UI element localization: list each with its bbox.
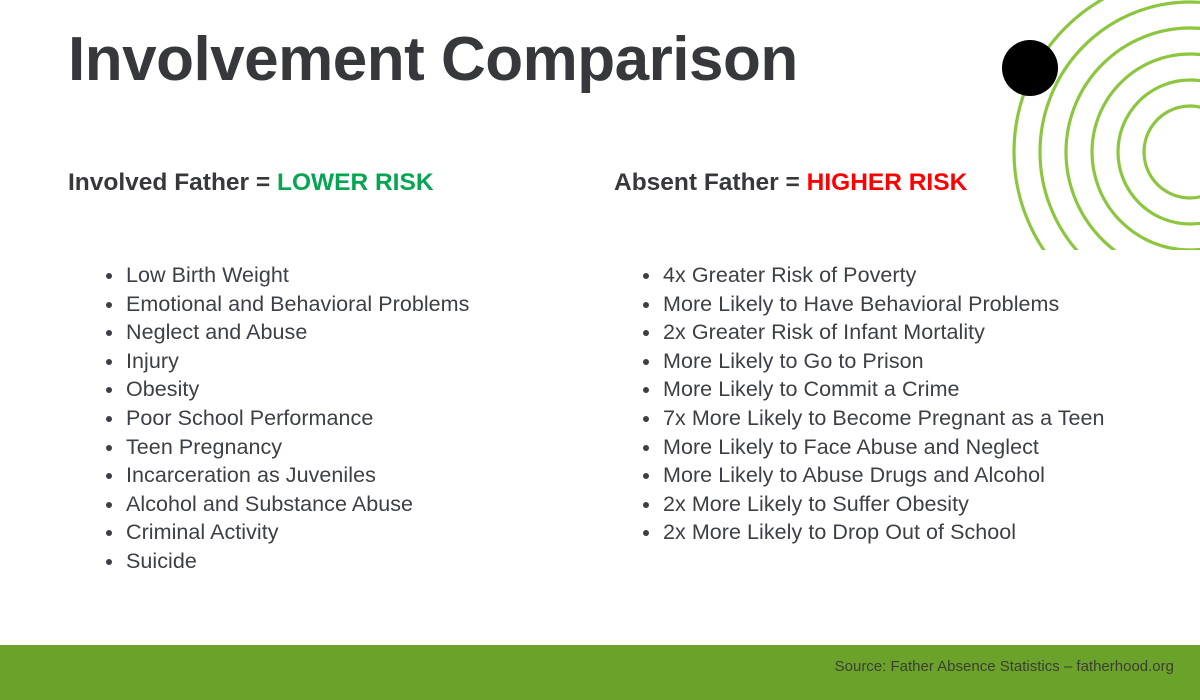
ring-group bbox=[1014, 0, 1200, 250]
source-citation: Source: Father Absence Statistics – fath… bbox=[835, 658, 1174, 675]
list-item: Emotional and Behavioral Problems bbox=[105, 290, 469, 319]
black-dot-icon bbox=[1002, 40, 1058, 96]
footer-band: Source: Father Absence Statistics – fath… bbox=[0, 645, 1200, 700]
list-item: 2x More Likely to Drop Out of School bbox=[642, 518, 1105, 547]
ring-2 bbox=[1118, 80, 1200, 224]
ring-5 bbox=[1040, 2, 1200, 250]
list-item: 2x More Likely to Suffer Obesity bbox=[642, 490, 1105, 519]
list-item: Teen Pregnancy bbox=[105, 433, 469, 462]
list-item: Alcohol and Substance Abuse bbox=[105, 490, 469, 519]
list-item: Injury bbox=[105, 347, 469, 376]
list-item: More Likely to Go to Prison bbox=[642, 347, 1105, 376]
list-item: Obesity bbox=[105, 375, 469, 404]
ring-4 bbox=[1066, 28, 1200, 250]
list-item: More Likely to Abuse Drugs and Alcohol bbox=[642, 461, 1105, 490]
page-title: Involvement Comparison bbox=[68, 26, 798, 94]
rings-svg bbox=[970, 0, 1200, 250]
list-item: Incarceration as Juveniles bbox=[105, 461, 469, 490]
list-item: 2x Greater Risk of Infant Mortality bbox=[642, 318, 1105, 347]
ring-3 bbox=[1092, 54, 1200, 250]
right-heading-prefix: Absent Father = bbox=[614, 169, 807, 196]
list-item: Poor School Performance bbox=[105, 404, 469, 433]
slide-canvas: Involvement Comparison Involved Father =… bbox=[0, 0, 1200, 700]
left-heading-risk-label: LOWER RISK bbox=[277, 169, 434, 196]
concentric-rings-decoration bbox=[970, 0, 1200, 250]
list-item: More Likely to Face Abuse and Neglect bbox=[642, 433, 1105, 462]
ring-6 bbox=[1014, 0, 1200, 250]
left-risk-list: Low Birth Weight Emotional and Behaviora… bbox=[105, 261, 469, 576]
list-item: Neglect and Abuse bbox=[105, 318, 469, 347]
list-item: More Likely to Commit a Crime bbox=[642, 375, 1105, 404]
list-item: Low Birth Weight bbox=[105, 261, 469, 290]
right-risk-list: 4x Greater Risk of Poverty More Likely t… bbox=[642, 261, 1105, 547]
left-heading-prefix: Involved Father = bbox=[68, 169, 277, 196]
right-column-heading: Absent Father = HIGHER RISK bbox=[614, 168, 1174, 197]
list-item: Criminal Activity bbox=[105, 518, 469, 547]
list-item: Suicide bbox=[105, 547, 469, 576]
list-item: 4x Greater Risk of Poverty bbox=[642, 261, 1105, 290]
right-heading-risk-label: HIGHER RISK bbox=[807, 169, 968, 196]
column-absent-father: Absent Father = HIGHER RISK 4x Greater R… bbox=[614, 168, 1174, 197]
list-item: More Likely to Have Behavioral Problems bbox=[642, 290, 1105, 319]
list-item: 7x More Likely to Become Pregnant as a T… bbox=[642, 404, 1105, 433]
left-column-heading: Involved Father = LOWER RISK bbox=[68, 168, 588, 197]
column-involved-father: Involved Father = LOWER RISK Low Birth W… bbox=[68, 168, 588, 197]
